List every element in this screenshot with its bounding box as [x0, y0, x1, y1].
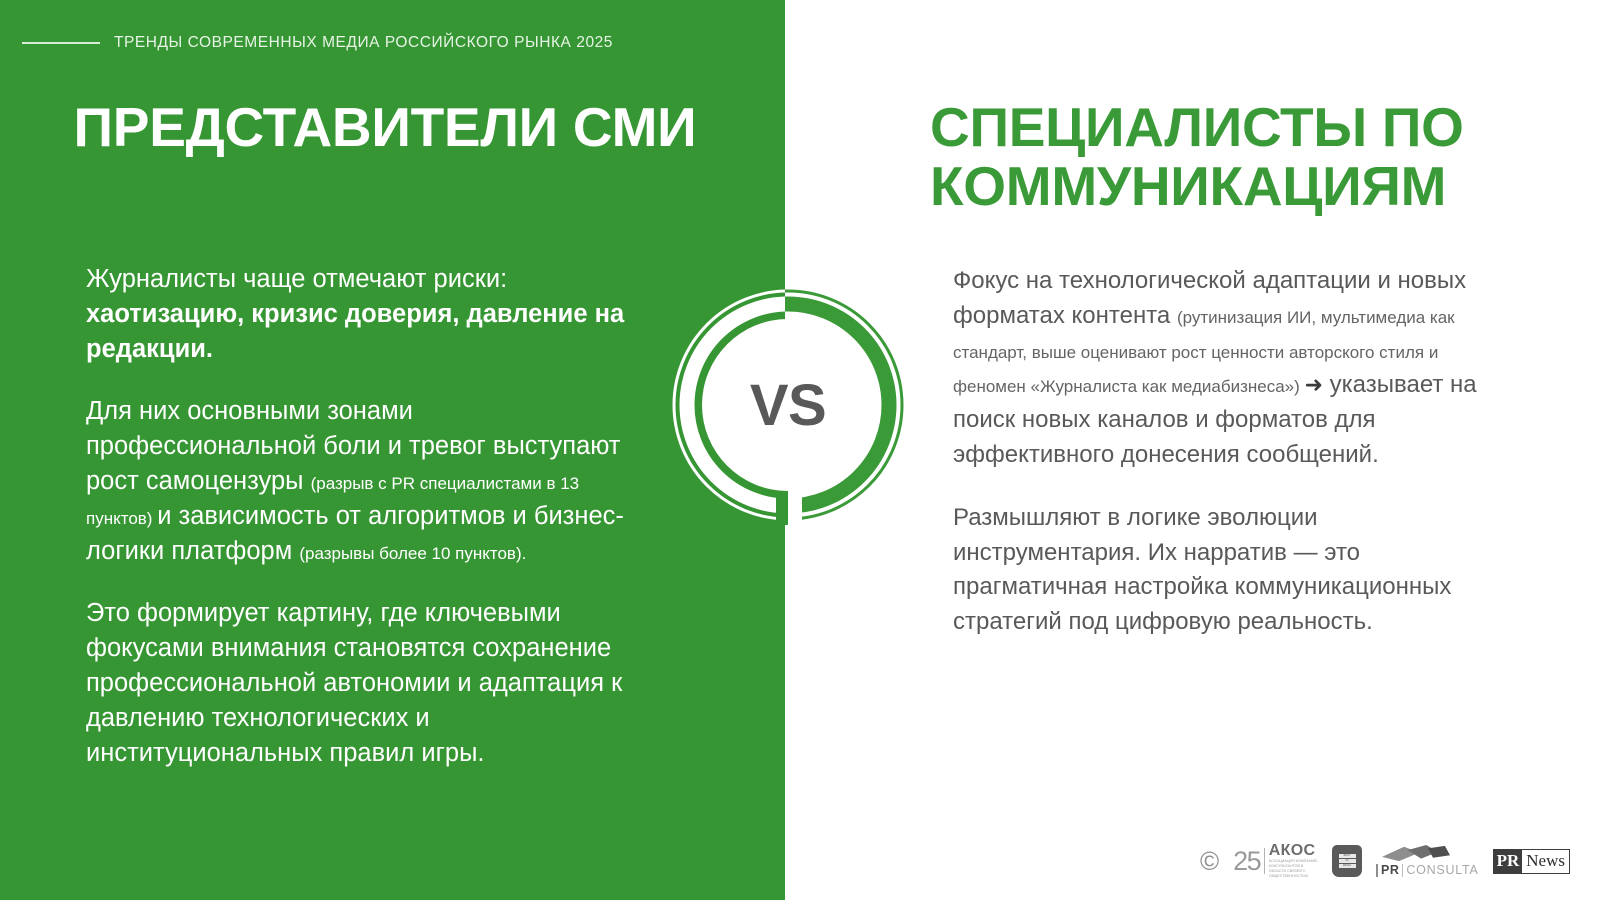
consulta-swoosh-icon — [1376, 845, 1456, 862]
copyright-icon: © — [1200, 848, 1219, 874]
consulta-wordmark: PR CONSULTA — [1376, 863, 1479, 877]
left-p1-bold: хаотизацию, кризис доверия, давление на … — [86, 300, 624, 363]
consulta-separator — [1402, 864, 1403, 877]
logo-bar: © 25 АКОС АССОЦИАЦИЯ КОМПАНИЙ-КОНСУЛЬТАН… — [1200, 838, 1570, 884]
kicker-rule-line — [22, 42, 100, 44]
logo-pr-consulta: PR CONSULTA — [1376, 841, 1479, 881]
seal-line-2: OF — [1339, 859, 1356, 863]
left-p1-lead: Журналисты чаще отмечают риски: — [86, 265, 507, 293]
left-p2-note-2: (разрывы более 10 пунктов). — [299, 544, 526, 563]
left-body-text: Журналисты чаще отмечают риски: хаотизац… — [86, 262, 646, 771]
logo-media-seal: BEST OF MEDIA — [1332, 841, 1362, 881]
prnews-pr-text: PR — [1494, 850, 1523, 873]
left-column-title: ПРЕДСТАВИТЕЛИ СМИ — [60, 98, 710, 157]
consulta-pr-text: PR — [1381, 863, 1399, 877]
akos-subtitle: АССОЦИАЦИЯ КОМПАНИЙ-КОНСУЛЬТАНТОВ В ОБЛА… — [1269, 859, 1318, 878]
akos-divider — [1264, 848, 1265, 874]
prnews-logo-box: PR News — [1493, 849, 1570, 874]
header-kicker: ТРЕНДЫ СОВРЕМЕННЫХ МЕДИА РОССИЙСКОГО РЫН… — [0, 30, 613, 56]
left-paragraph-2: Для них основными зонами профессионально… — [86, 394, 646, 570]
right-paragraph-1: Фокус на технологической адаптации и нов… — [953, 264, 1498, 473]
vs-badge: VS — [668, 285, 908, 525]
consulta-word-text: CONSULTA — [1406, 863, 1478, 877]
left-paragraph-1: Журналисты чаще отмечают риски: хаотизац… — [86, 262, 646, 368]
akos-anniversary-number: 25 — [1233, 848, 1260, 875]
slide-canvas: ТРЕНДЫ СОВРЕМЕННЫХ МЕДИА РОССИЙСКОГО РЫН… — [0, 0, 1600, 900]
akos-name: АКОС — [1269, 843, 1318, 859]
logo-akos: 25 АКОС АССОЦИАЦИЯ КОМПАНИЙ-КОНСУЛЬТАНТО… — [1233, 841, 1318, 881]
arrow-right-icon: ➜ — [1305, 372, 1323, 397]
vs-label: VS — [668, 285, 908, 525]
right-body-text: Фокус на технологической адаптации и нов… — [953, 264, 1498, 640]
media-seal-icon: BEST OF MEDIA — [1332, 845, 1362, 877]
logo-copyright: © — [1200, 841, 1219, 881]
left-paragraph-3: Это формирует картину, где ключевыми фок… — [86, 596, 646, 772]
seal-line-3: MEDIA — [1339, 864, 1356, 868]
prnews-news-text: News — [1522, 850, 1569, 873]
akos-text-wrap: АКОС АССОЦИАЦИЯ КОМПАНИЙ-КОНСУЛЬТАНТОВ В… — [1269, 843, 1318, 878]
right-column-title: СПЕЦИАЛИСТЫ ПО КОММУНИКАЦИЯМ — [930, 98, 1530, 216]
right-paragraph-2: Размышляют в логике эволюции инструмента… — [953, 501, 1498, 640]
logo-pr-news: PR News — [1493, 841, 1570, 881]
seal-line-1: BEST — [1339, 854, 1356, 858]
consulta-bar — [1376, 864, 1378, 877]
kicker-text: ТРЕНДЫ СОВРЕМЕННЫХ МЕДИА РОССИЙСКОГО РЫН… — [114, 34, 613, 52]
